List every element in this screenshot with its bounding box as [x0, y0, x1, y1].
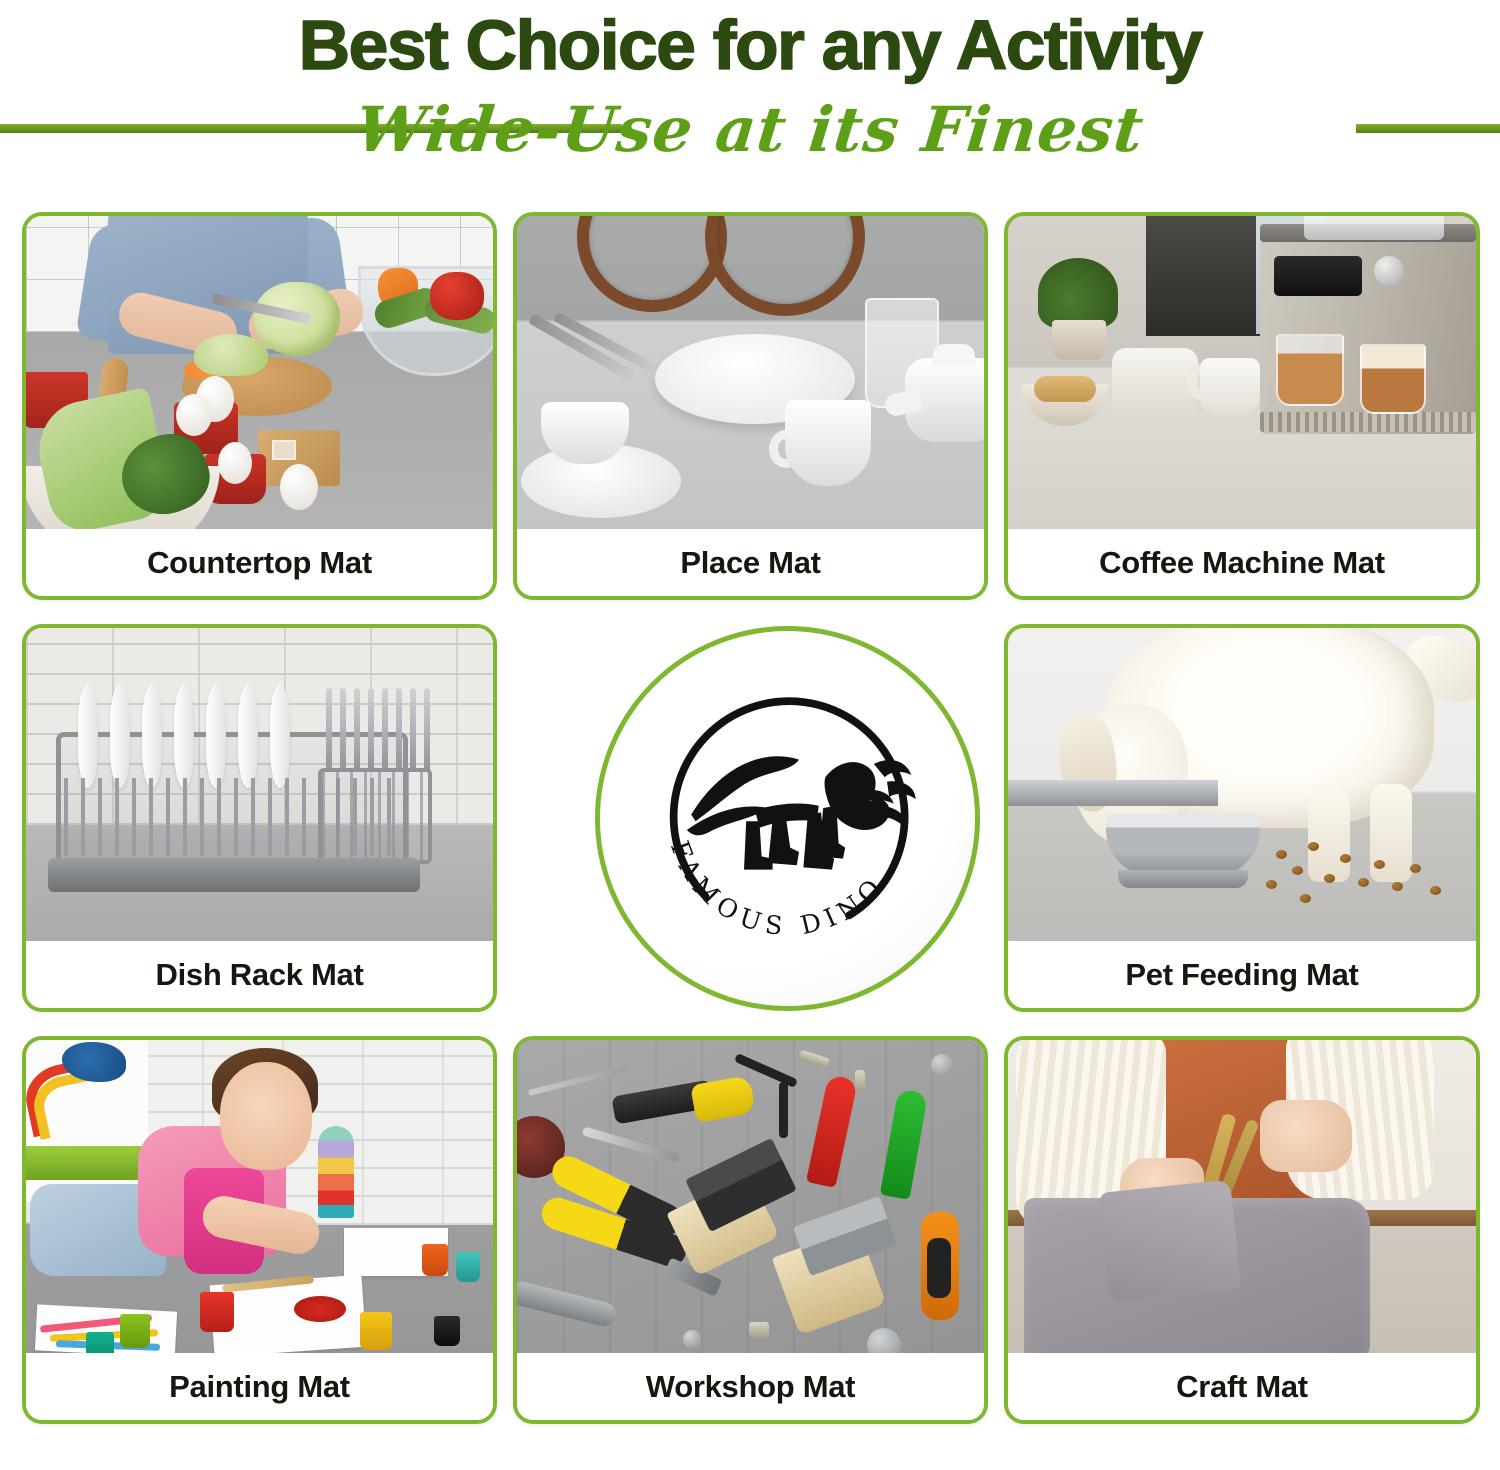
photo-countertop-mat [26, 216, 493, 529]
card-label-dish-rack-mat: Dish Rack Mat [26, 941, 493, 1008]
page-subtitle: Wide-Use at its Finest [0, 82, 1500, 178]
photo-dish-rack-mat [26, 628, 493, 941]
card-painting-mat[interactable]: Painting Mat [22, 1036, 497, 1424]
header: Best Choice for any Activity Wide-Use at… [0, 0, 1500, 172]
photo-craft-mat [1008, 1040, 1476, 1353]
card-label-craft-mat: Craft Mat [1008, 1353, 1476, 1420]
card-countertop-mat[interactable]: Countertop Mat [22, 212, 497, 600]
card-label-place-mat: Place Mat [517, 529, 984, 596]
card-label-countertop-mat: Countertop Mat [26, 529, 493, 596]
subheading-row: Wide-Use at its Finest [0, 90, 1500, 172]
photo-place-mat [517, 216, 984, 529]
card-coffee-machine-mat[interactable]: Coffee Machine Mat [1004, 212, 1480, 600]
photo-workshop-mat [517, 1040, 984, 1353]
page-title: Best Choice for any Activity [0, 6, 1500, 84]
brand-logo: FAMOUS DINO [595, 626, 980, 1011]
card-workshop-mat[interactable]: Workshop Mat [513, 1036, 988, 1424]
card-place-mat[interactable]: Place Mat [513, 212, 988, 600]
card-label-coffee-machine-mat: Coffee Machine Mat [1008, 529, 1476, 596]
photo-pet-feeding-mat [1008, 628, 1476, 941]
card-label-pet-feeding-mat: Pet Feeding Mat [1008, 941, 1476, 1008]
photo-coffee-machine-mat [1008, 216, 1476, 529]
card-craft-mat[interactable]: Craft Mat [1004, 1036, 1480, 1424]
card-dish-rack-mat[interactable]: Dish Rack Mat [22, 624, 497, 1012]
card-label-workshop-mat: Workshop Mat [517, 1353, 984, 1420]
famous-dino-logo-icon: FAMOUS DINO [623, 654, 953, 984]
feature-grid: Countertop Mat Place Mat [22, 212, 1480, 1424]
card-label-painting-mat: Painting Mat [26, 1353, 493, 1420]
photo-painting-mat [26, 1040, 493, 1353]
card-pet-feeding-mat[interactable]: Pet Feeding Mat [1004, 624, 1480, 1012]
